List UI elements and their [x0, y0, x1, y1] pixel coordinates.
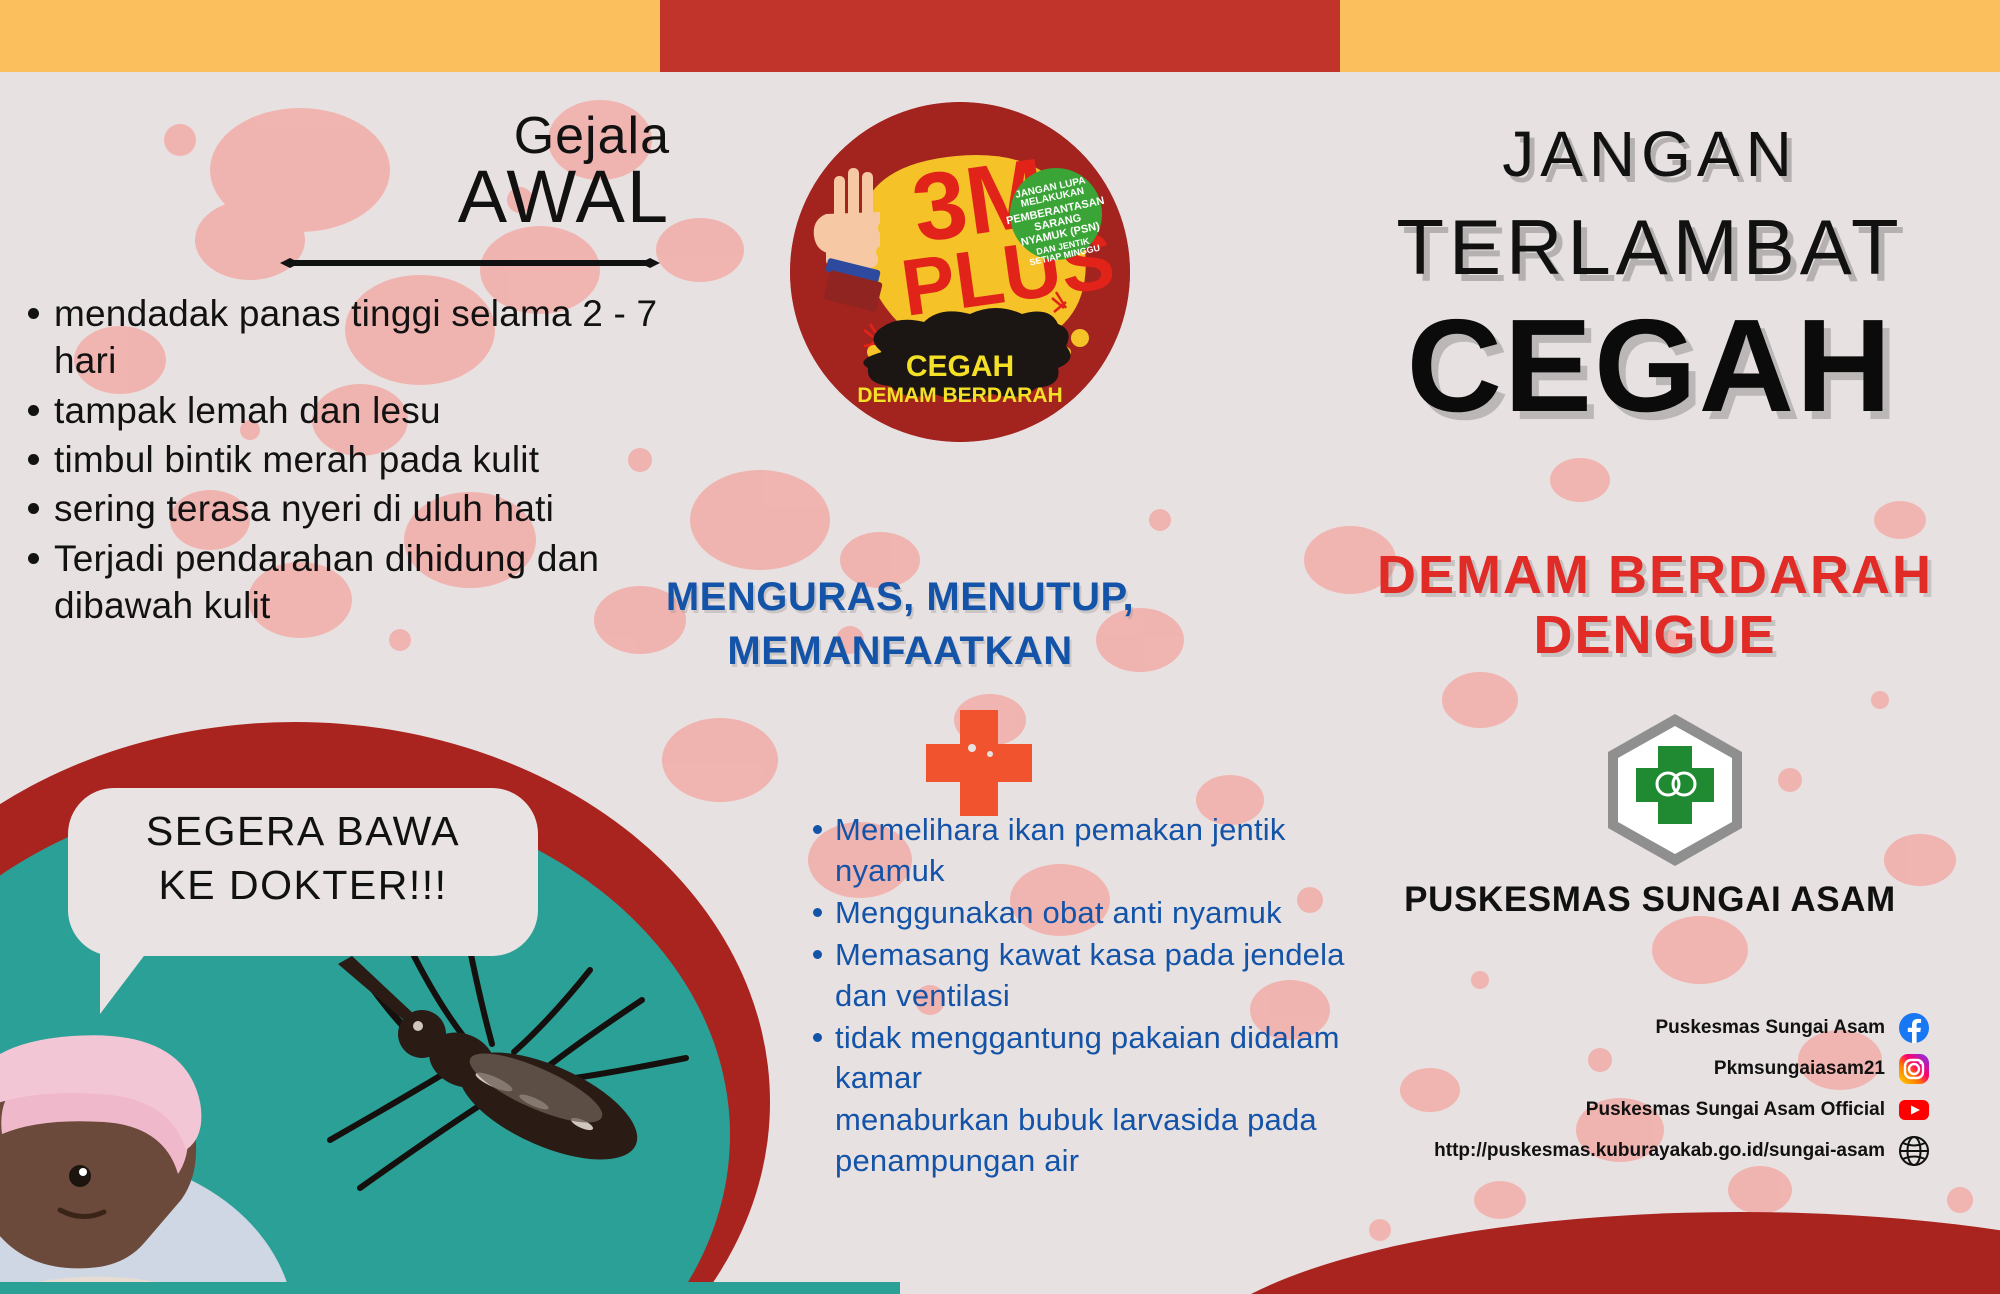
list-item: tampak lemah dan lesu [14, 387, 674, 434]
youtube-icon[interactable] [1898, 1094, 1930, 1126]
list-item: Memasang kawat kasa pada jendela dan ven… [805, 935, 1395, 1017]
contact-label-facebook: Puskesmas Sungai Asam [1655, 1017, 1885, 1039]
list-item: mendadak panas tinggi selama 2 - 7 hari [14, 290, 674, 385]
plus-cross-icon [920, 704, 1038, 822]
headline-dbd-line1: DEMAM BERDARAH [1290, 545, 2000, 605]
contact-block: Puskesmas Sungai Asam Pkmsungaiasam21 [1434, 1012, 1930, 1176]
logo-demam-berdarah-text: DEMAM BERDARAH [857, 384, 1062, 407]
contact-row-website[interactable]: http://puskesmas.kuburayakab.go.id/sunga… [1434, 1135, 1930, 1167]
logo-cegah-text: CEGAH [906, 350, 1014, 383]
speech-bubble-text: SEGERA BAWA KE DOKTER!!! [68, 804, 538, 912]
facebook-icon[interactable] [1898, 1012, 1930, 1044]
bottom-teal-strip [0, 1282, 900, 1294]
symptoms-heading-line2: AWAL [270, 158, 670, 236]
dengue-prevention-poster: Gejala AWAL mendadak panas tinggi selama… [0, 0, 2000, 1294]
heading-divider-line [280, 258, 660, 268]
headline-dbd-line2: DENGUE [1290, 605, 2000, 665]
list-item: sering terasa nyeri di uluh hati [14, 485, 674, 532]
health-clinic-hexagon-icon [1600, 710, 1750, 870]
speech-bubble-line2: KE DOKTER!!! [68, 858, 538, 912]
contact-label-instagram: Pkmsungaiasam21 [1714, 1058, 1885, 1080]
contact-row-youtube[interactable]: Puskesmas Sungai Asam Official [1434, 1094, 1930, 1126]
list-item: menaburkan bubuk larvasida pada penampun… [805, 1100, 1395, 1182]
contact-label-youtube: Puskesmas Sungai Asam Official [1586, 1099, 1885, 1121]
headline-cegah: CEGAH [1290, 300, 2000, 432]
top-bar-middle-red [660, 0, 1340, 72]
speech-bubble-line1: SEGERA BAWA [68, 804, 538, 858]
symptoms-heading: Gejala AWAL [270, 110, 670, 236]
mosquito-photo [290, 930, 710, 1220]
top-bar-left-orange [0, 0, 660, 72]
three-m-slogan-line2: MEMANFAATKAN [600, 624, 1200, 678]
globe-icon[interactable] [1898, 1135, 1930, 1167]
bottom-red-curve [1180, 1212, 2000, 1294]
contact-row-facebook[interactable]: Puskesmas Sungai Asam [1434, 1012, 1930, 1044]
prevention-list: Memelihara ikan pemakan jentik nyamuk Me… [805, 810, 1395, 1183]
three-m-plus-logo: 3M PLUS CEGAH DEMAM BERDARAH JANGAN LUPA… [790, 102, 1130, 442]
list-item: tidak menggantung pakaian didalam kamar [805, 1018, 1395, 1100]
three-m-slogan: MENGURAS, MENUTUP, MEMANFAATKAN [600, 570, 1200, 678]
headline-dengue: DEMAM BERDARAH DENGUE [1290, 545, 2000, 666]
list-item: Terjadi pendarahan dihidung dan dibawah … [14, 535, 674, 630]
instagram-icon[interactable] [1898, 1053, 1930, 1085]
symptoms-list: mendadak panas tinggi selama 2 - 7 hari … [14, 290, 674, 632]
top-bar-right-orange [1340, 0, 2000, 72]
clinic-name: PUSKESMAS SUNGAI ASAM [1280, 880, 2000, 920]
contact-label-website: http://puskesmas.kuburayakab.go.id/sunga… [1434, 1140, 1885, 1162]
headline-terlambat: TERLAMBAT [1290, 208, 2000, 286]
three-m-slogan-line1: MENGURAS, MENUTUP, [600, 570, 1200, 624]
list-item: timbul bintik merah pada kulit [14, 436, 674, 483]
speech-bubble-tail [100, 940, 156, 1014]
headline-jangan: JANGAN [1330, 122, 1970, 186]
contact-row-instagram[interactable]: Pkmsungaiasam21 [1434, 1053, 1930, 1085]
